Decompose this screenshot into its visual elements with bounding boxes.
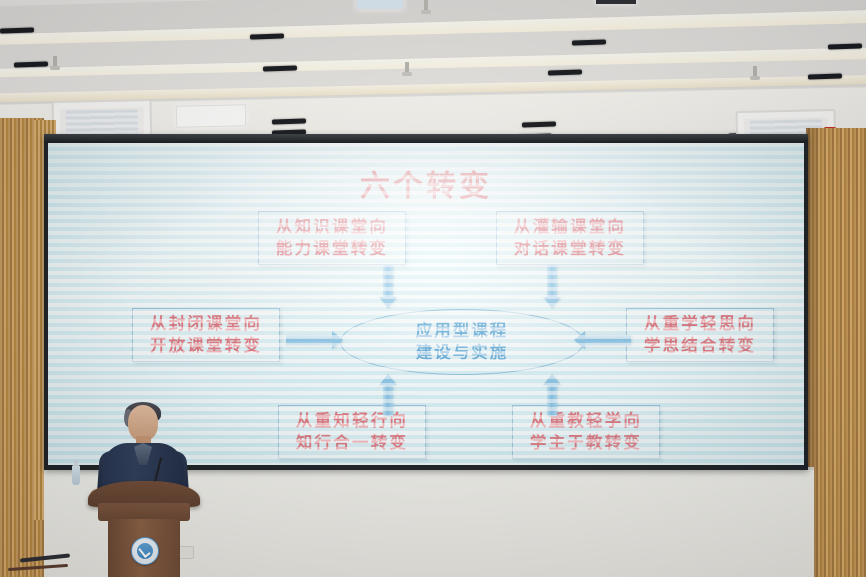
node-top-right-line2: 对话课堂转变 <box>514 238 626 260</box>
center-ellipse-line2: 建设与实施 <box>416 342 509 364</box>
ceiling-panel-light <box>596 0 636 4</box>
arrow-down-from-top-left <box>379 265 397 308</box>
sprinkler-head <box>753 66 757 78</box>
node-middle-right: 从重学轻思向 学思结合转变 <box>626 308 774 362</box>
slide-title: 六个转变 <box>48 161 804 205</box>
university-emblem-icon <box>131 537 159 565</box>
arrow-up-from-bottom-left <box>379 374 397 416</box>
ceiling <box>0 0 866 152</box>
arrow-down-from-top-right <box>543 265 561 308</box>
node-bottom-left-line2: 知行合一转变 <box>296 432 408 454</box>
node-top-right: 从灌输课堂向 对话课堂转变 <box>496 211 644 265</box>
water-bottle <box>72 465 80 485</box>
ceiling-panel-light <box>356 0 404 10</box>
node-top-right-line1: 从灌输课堂向 <box>514 216 626 238</box>
node-bottom-right-line2: 学主于教转变 <box>530 432 642 454</box>
arrow-left-from-middle-right <box>574 331 631 349</box>
node-middle-right-line2: 学思结合转变 <box>644 335 756 357</box>
node-middle-left: 从封闭课堂向 开放课堂转变 <box>132 308 280 362</box>
screen-top-bar <box>44 134 808 143</box>
node-middle-left-line2: 开放课堂转变 <box>150 335 262 357</box>
center-ellipse-line1: 应用型课程 <box>416 320 509 342</box>
podium <box>88 481 200 577</box>
wood-slat-wall-right <box>806 128 866 577</box>
sprinkler-head <box>53 56 57 68</box>
screenshot-root: 六个转变 从知识课堂向 能力课堂转变 从灌输课堂向 对话课堂转变 从封闭课堂向 … <box>0 0 866 577</box>
arrow-right-from-middle-left <box>286 331 343 349</box>
ceiling-panel-light <box>176 104 246 127</box>
node-bottom-left: 从重知轻行向 知行合一转变 <box>278 405 426 459</box>
node-top-left-line2: 能力课堂转变 <box>276 238 388 260</box>
node-top-left-line1: 从知识课堂向 <box>276 216 388 238</box>
arrow-up-from-bottom-right <box>543 374 561 416</box>
node-bottom-right: 从重教轻学向 学主于教转变 <box>512 405 660 459</box>
node-middle-left-line1: 从封闭课堂向 <box>150 313 262 335</box>
sprinkler-head <box>405 62 409 74</box>
center-ellipse: 应用型课程 建设与实施 <box>340 309 584 375</box>
sprinkler-head <box>424 0 428 12</box>
node-top-left: 从知识课堂向 能力课堂转变 <box>258 211 406 265</box>
node-middle-right-line1: 从重学轻思向 <box>644 313 756 335</box>
